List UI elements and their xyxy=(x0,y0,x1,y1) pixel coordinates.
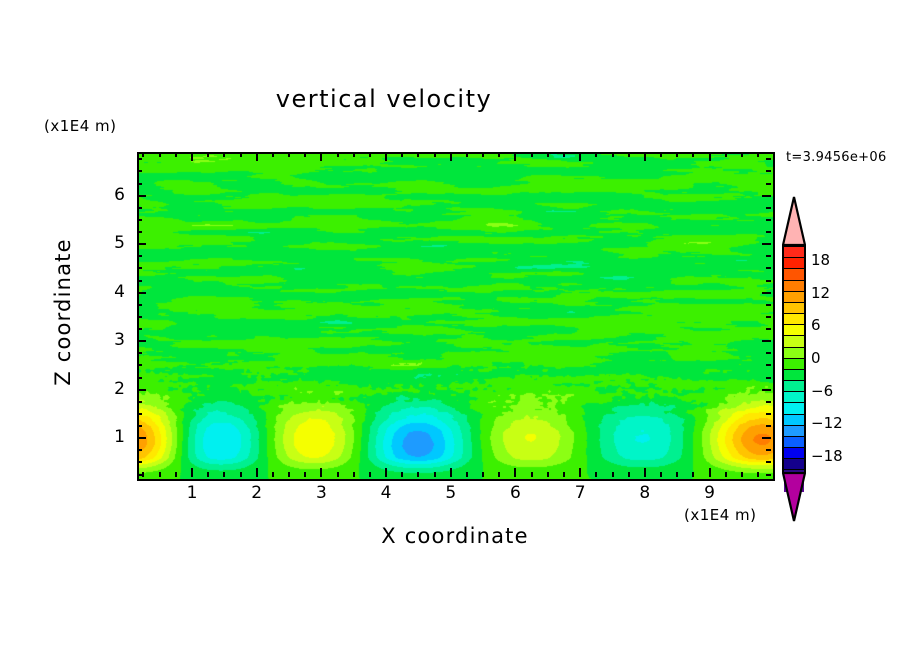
y-tick-minor xyxy=(137,377,142,379)
y-tick-minor xyxy=(137,158,142,160)
x-tick-minor xyxy=(531,472,533,477)
x-tick-minor-top xyxy=(628,152,630,157)
colorbar-over-arrow-icon xyxy=(782,196,806,246)
x-tick-minor-top xyxy=(757,152,759,157)
y-tick-minor-right xyxy=(766,267,771,269)
x-tick-major-top xyxy=(191,152,193,161)
x-tick-minor-top xyxy=(692,152,694,157)
colorbar-band xyxy=(784,247,804,258)
y-tick-minor xyxy=(137,449,142,451)
colorbar-band xyxy=(784,359,804,370)
x-tick-major-top xyxy=(256,152,258,161)
x-tick-minor-top xyxy=(353,152,355,157)
x-tick-minor-top xyxy=(563,152,565,157)
colorbar-band xyxy=(784,292,804,303)
x-tick-minor-top xyxy=(531,152,533,157)
y-tick-minor xyxy=(137,255,142,257)
x-tick-minor xyxy=(612,472,614,477)
colorbar-tick-label: 18 xyxy=(811,251,855,269)
y-tick-minor-right xyxy=(766,316,771,318)
x-tick-major xyxy=(709,468,711,477)
y-tick-minor xyxy=(137,401,142,403)
colorbar-band xyxy=(784,303,804,314)
colorbar-band xyxy=(784,258,804,269)
x-tick-minor xyxy=(207,472,209,477)
x-tick-major xyxy=(385,468,387,477)
x-tick-minor-top xyxy=(741,152,743,157)
y-tick-minor xyxy=(137,267,142,269)
x-tick-label: 9 xyxy=(695,483,725,503)
x-tick-minor xyxy=(353,472,355,477)
y-tick-minor-right xyxy=(766,231,771,233)
colorbar-band xyxy=(784,269,804,280)
x-tick-minor-top xyxy=(304,152,306,157)
x-tick-minor-top xyxy=(159,152,161,157)
chart-title: vertical velocity xyxy=(0,85,768,113)
y-tick-minor-right xyxy=(766,158,771,160)
x-tick-minor xyxy=(369,472,371,477)
y-tick-major xyxy=(137,389,146,391)
y-tick-minor xyxy=(137,474,142,476)
x-tick-minor xyxy=(159,472,161,477)
colorbar-band xyxy=(784,448,804,459)
y-tick-major xyxy=(137,437,146,439)
y-tick-major-right xyxy=(762,243,771,245)
colorbar-tick-label: −12 xyxy=(811,414,855,432)
y-tick-minor-right xyxy=(766,401,771,403)
x-tick-minor-top xyxy=(175,152,177,157)
colorbar-under-arrow-icon xyxy=(782,472,806,522)
x-tick-minor-top xyxy=(142,152,144,157)
x-tick-major xyxy=(450,468,452,477)
y-tick-label: 6 xyxy=(95,185,125,205)
x-tick-minor xyxy=(223,472,225,477)
y-tick-minor-right xyxy=(766,425,771,427)
x-tick-minor-top xyxy=(417,152,419,157)
x-tick-minor xyxy=(482,472,484,477)
figure-canvas: vertical velocity (x1E4 m) (x1E4 m) t=3.… xyxy=(0,0,904,654)
colorbar-band xyxy=(784,403,804,414)
y-tick-minor-right xyxy=(766,364,771,366)
x-tick-minor-top xyxy=(401,152,403,157)
y-tick-major xyxy=(137,243,146,245)
y-tick-minor-right xyxy=(766,183,771,185)
y-tick-minor xyxy=(137,170,142,172)
x-tick-minor-top xyxy=(272,152,274,157)
x-tick-minor-top xyxy=(337,152,339,157)
colorbar-tick-label: 0 xyxy=(811,349,855,367)
colorbar-band xyxy=(784,426,804,437)
y-tick-major xyxy=(137,195,146,197)
x-tick-minor-top xyxy=(547,152,549,157)
x-tick-minor xyxy=(595,472,597,477)
y-tick-minor-right xyxy=(766,170,771,172)
y-tick-minor xyxy=(137,425,142,427)
x-tick-minor-top xyxy=(676,152,678,157)
x-tick-minor-top xyxy=(498,152,500,157)
x-tick-minor-top xyxy=(466,152,468,157)
y-tick-label: 3 xyxy=(95,330,125,350)
y-tick-major xyxy=(137,292,146,294)
y-tick-label: 2 xyxy=(95,379,125,399)
x-tick-minor xyxy=(337,472,339,477)
x-axis-title: X coordinate xyxy=(275,524,635,548)
x-tick-minor xyxy=(272,472,274,477)
x-tick-minor-top xyxy=(223,152,225,157)
x-tick-major xyxy=(320,468,322,477)
y-tick-minor-right xyxy=(766,474,771,476)
x-tick-minor-top xyxy=(207,152,209,157)
colorbar-band xyxy=(784,325,804,336)
colorbar-tick-label: 12 xyxy=(811,284,855,302)
y-tick-major-right xyxy=(762,340,771,342)
x-tick-minor xyxy=(498,472,500,477)
velocity-field-canvas xyxy=(139,154,773,479)
colorbar-tick-label: −18 xyxy=(811,447,855,465)
x-tick-minor xyxy=(757,472,759,477)
x-tick-minor xyxy=(692,472,694,477)
x-tick-label: 1 xyxy=(177,483,207,503)
colorbar-band xyxy=(784,381,804,392)
x-tick-major-top xyxy=(709,152,711,161)
x-tick-major-top xyxy=(385,152,387,161)
colorbar-bands xyxy=(782,245,806,473)
y-tick-minor xyxy=(137,207,142,209)
y-tick-major-right xyxy=(762,389,771,391)
y-tick-minor-right xyxy=(766,413,771,415)
x-tick-minor xyxy=(175,472,177,477)
x-tick-label: 4 xyxy=(371,483,401,503)
x-tick-label: 8 xyxy=(630,483,660,503)
colorbar-band xyxy=(784,348,804,359)
colorbar-band xyxy=(784,437,804,448)
x-tick-major-top xyxy=(450,152,452,161)
y-tick-minor-right xyxy=(766,207,771,209)
x-tick-major-top xyxy=(644,152,646,161)
y-axis-title: Z coordinate xyxy=(51,232,75,392)
x-tick-minor-top xyxy=(595,152,597,157)
y-tick-minor-right xyxy=(766,219,771,221)
x-tick-label: 7 xyxy=(565,483,595,503)
y-tick-major xyxy=(137,340,146,342)
x-tick-minor xyxy=(288,472,290,477)
x-tick-minor-top xyxy=(288,152,290,157)
x-tick-minor-top xyxy=(240,152,242,157)
y-tick-minor xyxy=(137,280,142,282)
x-tick-minor-top xyxy=(725,152,727,157)
x-tick-minor-top xyxy=(660,152,662,157)
colorbar-band xyxy=(784,415,804,426)
colorbar-band xyxy=(784,314,804,325)
x-tick-minor xyxy=(466,472,468,477)
x-tick-minor-top xyxy=(434,152,436,157)
x-tick-minor xyxy=(676,472,678,477)
y-tick-minor xyxy=(137,352,142,354)
y-tick-minor xyxy=(137,316,142,318)
colorbar-band xyxy=(784,370,804,381)
y-tick-minor-right xyxy=(766,304,771,306)
x-tick-minor xyxy=(240,472,242,477)
y-tick-minor xyxy=(137,304,142,306)
x-tick-label: 5 xyxy=(436,483,466,503)
colorbar-band xyxy=(784,459,804,470)
y-tick-minor xyxy=(137,364,142,366)
x-tick-major xyxy=(191,468,193,477)
y-axis-unit-label: (x1E4 m) xyxy=(44,117,117,135)
x-tick-label: 6 xyxy=(500,483,530,503)
y-tick-major-right xyxy=(762,437,771,439)
x-tick-minor xyxy=(434,472,436,477)
x-tick-major xyxy=(579,468,581,477)
y-tick-major-right xyxy=(762,195,771,197)
x-tick-minor xyxy=(660,472,662,477)
x-tick-minor-top xyxy=(482,152,484,157)
colorbar: 181260−6−12−18 xyxy=(779,196,809,516)
x-tick-minor xyxy=(401,472,403,477)
y-tick-minor xyxy=(137,413,142,415)
y-tick-label: 4 xyxy=(95,282,125,302)
x-tick-minor-top xyxy=(369,152,371,157)
y-tick-minor xyxy=(137,219,142,221)
x-tick-minor xyxy=(725,472,727,477)
x-tick-major-top xyxy=(579,152,581,161)
x-tick-major xyxy=(514,468,516,477)
y-tick-minor-right xyxy=(766,377,771,379)
y-tick-minor xyxy=(137,461,142,463)
colorbar-band xyxy=(784,392,804,403)
x-tick-major xyxy=(256,468,258,477)
y-tick-minor xyxy=(137,328,142,330)
colorbar-tick-label: −6 xyxy=(811,382,855,400)
y-tick-minor-right xyxy=(766,352,771,354)
x-tick-minor xyxy=(417,472,419,477)
y-tick-minor-right xyxy=(766,255,771,257)
y-tick-minor xyxy=(137,231,142,233)
x-tick-major-top xyxy=(514,152,516,161)
x-axis-unit-label: (x1E4 m) xyxy=(684,506,757,524)
colorbar-tick-label: 6 xyxy=(811,316,855,334)
contour-plot-area xyxy=(137,152,775,481)
x-tick-label: 3 xyxy=(306,483,336,503)
x-tick-minor xyxy=(142,472,144,477)
y-tick-minor-right xyxy=(766,449,771,451)
x-tick-minor xyxy=(741,472,743,477)
x-tick-label: 2 xyxy=(242,483,272,503)
x-tick-minor-top xyxy=(612,152,614,157)
time-annotation: t=3.9456e+06 xyxy=(786,150,887,165)
y-tick-minor-right xyxy=(766,280,771,282)
y-tick-label: 5 xyxy=(95,233,125,253)
x-tick-minor xyxy=(628,472,630,477)
colorbar-band xyxy=(784,336,804,347)
x-tick-major xyxy=(644,468,646,477)
x-tick-minor xyxy=(563,472,565,477)
x-tick-minor xyxy=(547,472,549,477)
x-tick-minor xyxy=(304,472,306,477)
x-tick-major-top xyxy=(320,152,322,161)
y-tick-minor-right xyxy=(766,328,771,330)
y-tick-label: 1 xyxy=(95,427,125,447)
y-tick-minor xyxy=(137,183,142,185)
y-tick-major-right xyxy=(762,292,771,294)
y-tick-minor-right xyxy=(766,461,771,463)
colorbar-band xyxy=(784,281,804,292)
